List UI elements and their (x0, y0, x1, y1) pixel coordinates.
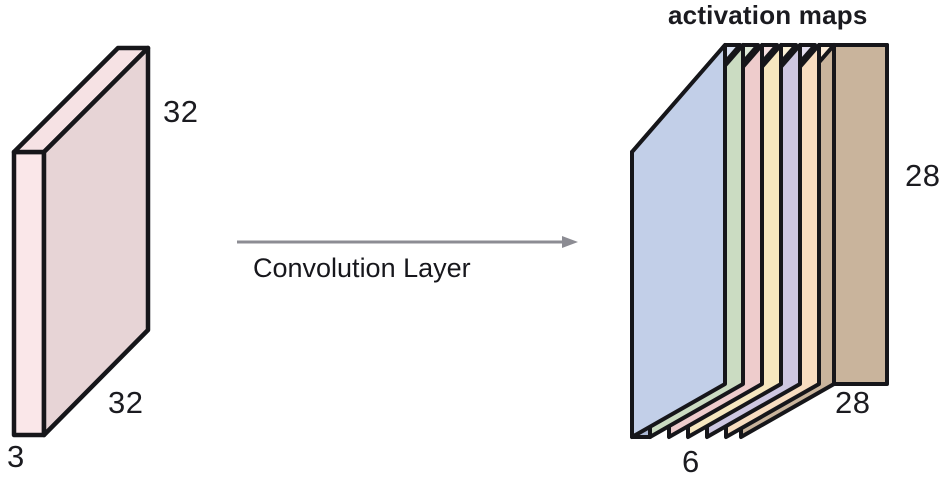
input-volume-side-face (14, 152, 44, 435)
output-depth-label: 6 (682, 446, 700, 477)
output-height-label: 28 (905, 160, 940, 191)
input-volume (14, 48, 148, 435)
slice-blue (632, 45, 740, 437)
output-width-label: 28 (835, 387, 870, 418)
convolution-layer-label: Convolution Layer (253, 255, 471, 282)
diagram-canvas: activation maps Convolution Layer 32 32 … (0, 0, 949, 477)
slice-blue-front-face (632, 45, 725, 437)
input-height-label: 32 (163, 96, 198, 127)
convolution-arrow-head (562, 236, 578, 248)
activation-maps-stack (632, 45, 887, 437)
input-width-label: 32 (108, 387, 143, 418)
activation-maps-title: activation maps (668, 2, 868, 28)
convolution-arrow (237, 236, 578, 248)
activation-map-body-right-face (834, 45, 887, 384)
input-depth-label: 3 (7, 441, 25, 472)
